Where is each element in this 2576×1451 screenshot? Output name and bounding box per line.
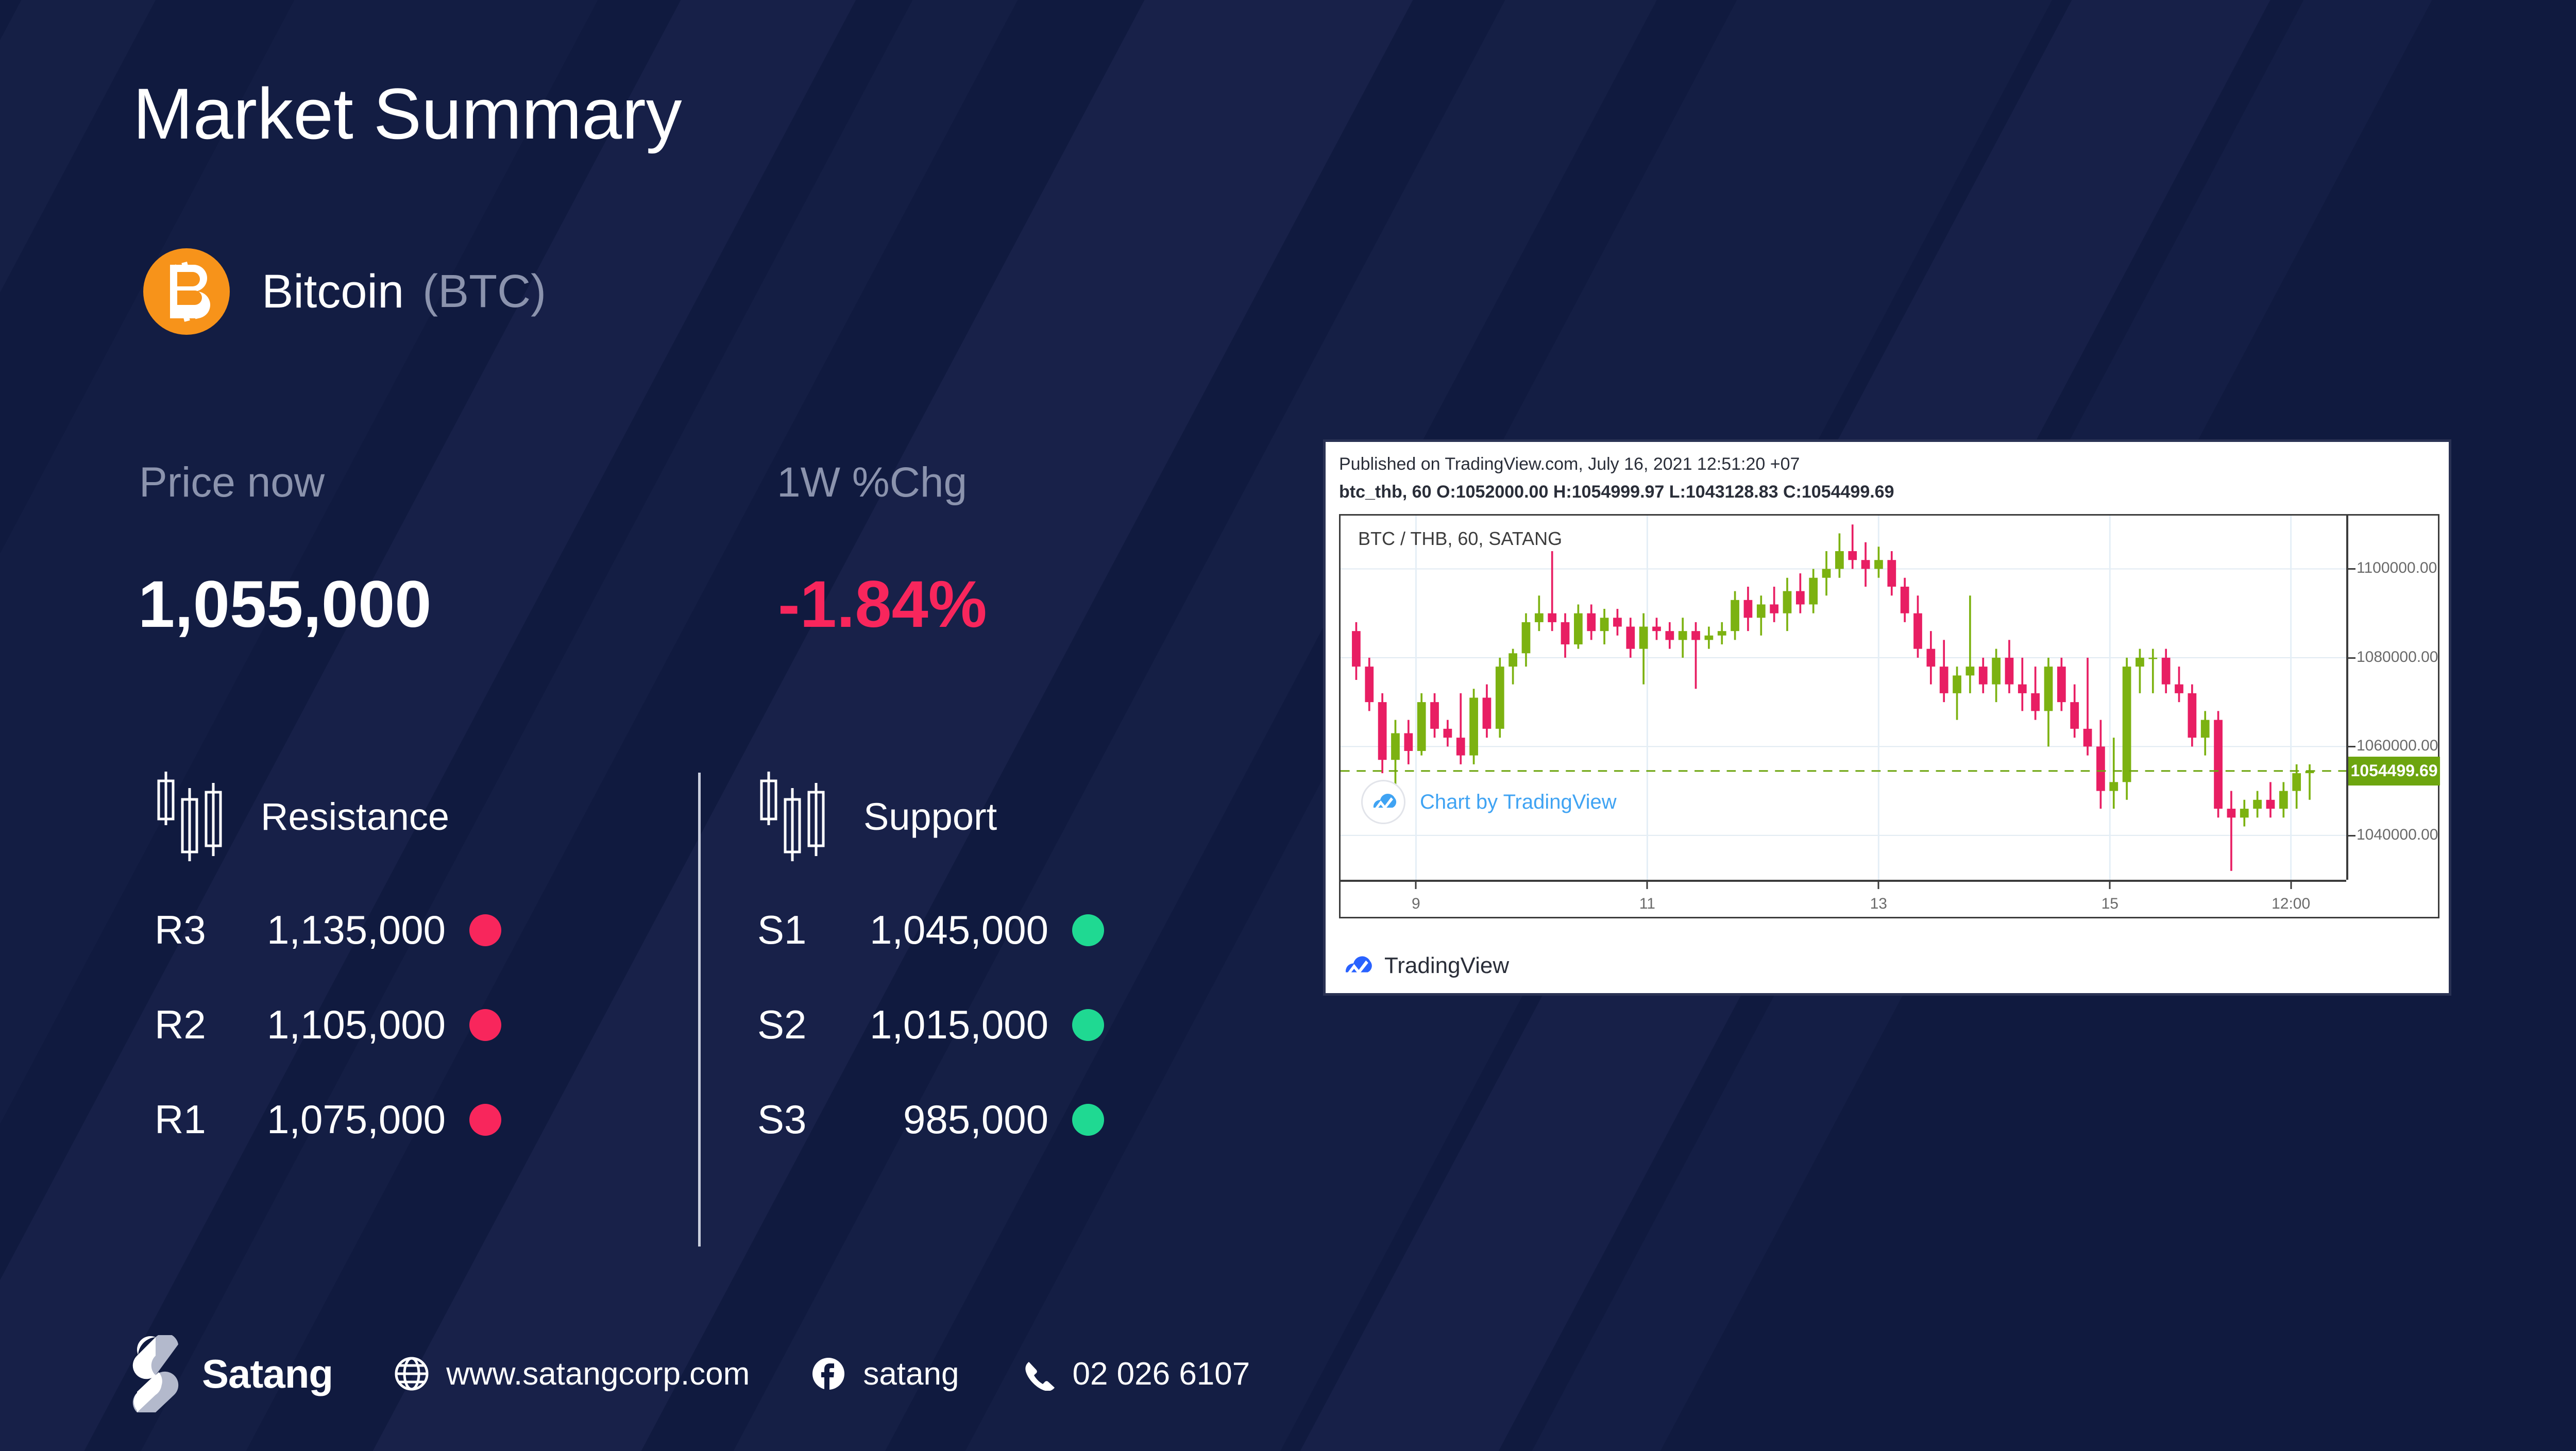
level-code: S1 [757, 907, 835, 953]
status-badge [469, 1104, 501, 1136]
price-now-value: 1,055,000 [138, 567, 431, 642]
price-axis-tick-label: 1100000.00 [2357, 559, 2437, 577]
ohlc-close-value: 1054499.69 [1802, 482, 1894, 502]
time-axis-tick-mark [1647, 882, 1648, 889]
price-axis-tick-label: 1040000.00 [2357, 826, 2438, 844]
support-heading: Support [757, 767, 997, 865]
table-row: R1 1,075,000 [155, 1096, 501, 1143]
chart-watermark-label: Chart by TradingView [1420, 791, 1617, 814]
level-value: 1,045,000 [835, 907, 1048, 953]
price-axis-tick-mark [2348, 746, 2355, 747]
satang-s-logo: Satang [129, 1335, 333, 1412]
tradingview-chart-panel[interactable]: Published on TradingView.com, July 16, 2… [1323, 439, 2451, 996]
time-axis-tick-mark [1415, 882, 1417, 889]
time-axis-tick-label: 13 [1870, 895, 1887, 913]
website-link[interactable]: www.satangcorp.com [395, 1356, 750, 1392]
level-value: 1,135,000 [232, 907, 446, 953]
resistance-heading: Resistance [155, 767, 449, 865]
level-value: 1,105,000 [232, 1001, 446, 1048]
footer-bar: Satang www.satangcorp.com satang 02 [0, 1296, 1546, 1451]
time-axis-tick-label: 11 [1639, 895, 1655, 913]
ohlc-symbol: btc_thb, 60 [1339, 482, 1431, 502]
coin-name: Bitcoin [262, 265, 404, 319]
tradingview-brand: TradingView [1341, 950, 1509, 982]
table-row: R3 1,135,000 [155, 907, 501, 953]
level-value: 985,000 [835, 1096, 1048, 1143]
chart-area[interactable]: BTC / THB, 60, SATANG Chart by TradingVi… [1339, 514, 2439, 918]
ohlc-open-value: 1052000.00 [1456, 482, 1549, 502]
candlestick-series [1341, 516, 2346, 880]
tradingview-icon [1361, 780, 1405, 824]
price-axis-tick-mark [2348, 657, 2355, 659]
column-divider [698, 773, 701, 1247]
table-row: S1 1,045,000 [757, 907, 1104, 953]
table-row: S2 1,015,000 [757, 1001, 1104, 1048]
price-axis-tick-mark [2348, 568, 2355, 570]
ohlc-open-label: O: [1436, 482, 1456, 502]
level-code: R2 [155, 1001, 232, 1048]
level-code: R1 [155, 1096, 232, 1143]
chart-watermark: Chart by TradingView [1361, 780, 1617, 824]
globe-icon [395, 1357, 429, 1391]
current-price-tag: 1054499.69 [2348, 757, 2440, 786]
phone-label: 02 026 6107 [1072, 1356, 1250, 1392]
tradingview-icon [1341, 950, 1373, 982]
ohlc-low-label: L: [1669, 482, 1686, 502]
level-code: S3 [757, 1096, 835, 1143]
price-axis-tick-label: 1080000.00 [2357, 648, 2438, 666]
time-axis-tick-label: 12:00 [2272, 895, 2310, 913]
published-line: Published on TradingView.com, July 16, 2… [1339, 454, 1800, 474]
ohlc-close-label: C: [1783, 482, 1802, 502]
ohlc-high-value: 1054999.97 [1572, 482, 1665, 502]
facebook-icon [811, 1357, 845, 1391]
left-panel: Market Summary Bitcoin (BTC) Price now 1… [0, 0, 1288, 1451]
website-label: www.satangcorp.com [446, 1356, 750, 1392]
time-axis: 911131512:00 [1341, 880, 2346, 917]
level-value: 1,075,000 [232, 1096, 446, 1143]
status-badge [1072, 914, 1104, 946]
time-axis-tick-label: 15 [2102, 895, 2119, 913]
coin-header: Bitcoin (BTC) [143, 248, 546, 335]
coin-ticker: (BTC) [422, 265, 546, 318]
facebook-link[interactable]: satang [811, 1356, 959, 1392]
market-summary-card: Market Summary Bitcoin (BTC) Price now 1… [0, 0, 2576, 1451]
status-badge [469, 1009, 501, 1041]
level-code: R3 [155, 907, 232, 953]
price-axis: 1100000.001080000.001060000.001040000.00… [2346, 516, 2438, 880]
phone-link[interactable]: 02 026 6107 [1021, 1356, 1250, 1392]
phone-icon [1021, 1357, 1055, 1391]
status-badge [1072, 1009, 1104, 1041]
level-code: S2 [757, 1001, 835, 1048]
table-row: S3 985,000 [757, 1096, 1104, 1143]
facebook-label: satang [863, 1356, 959, 1392]
satang-wordmark: Satang [202, 1351, 333, 1397]
bitcoin-icon [143, 248, 230, 335]
candlestick-icon [757, 767, 835, 865]
candlestick-plot [1341, 516, 2346, 880]
ohlc-low-value: 1043128.83 [1686, 482, 1778, 502]
ohlc-high-label: H: [1553, 482, 1572, 502]
time-axis-tick-label: 9 [1412, 895, 1420, 913]
time-axis-tick-mark [2109, 882, 2111, 889]
resistance-heading-label: Resistance [261, 795, 449, 839]
time-axis-tick-mark [1878, 882, 1879, 889]
table-row: R2 1,105,000 [155, 1001, 501, 1048]
support-heading-label: Support [863, 795, 997, 839]
status-badge [469, 914, 501, 946]
price-now-label: Price now [139, 458, 325, 507]
chart-symbol-label: BTC / THB, 60, SATANG [1358, 528, 1562, 550]
time-axis-tick-mark [2290, 882, 2292, 889]
ohlc-line: btc_thb, 60 O:1052000.00 H:1054999.97 L:… [1339, 482, 1894, 502]
week-change-value: -1.84% [778, 567, 987, 642]
level-value: 1,015,000 [835, 1001, 1048, 1048]
price-axis-tick-label: 1060000.00 [2357, 737, 2438, 755]
candlestick-icon [155, 767, 232, 865]
week-change-label: 1W %Chg [777, 458, 967, 507]
price-axis-tick-mark [2348, 835, 2355, 837]
page-title: Market Summary [133, 72, 682, 156]
tradingview-brand-label: TradingView [1384, 953, 1509, 979]
status-badge [1072, 1104, 1104, 1136]
